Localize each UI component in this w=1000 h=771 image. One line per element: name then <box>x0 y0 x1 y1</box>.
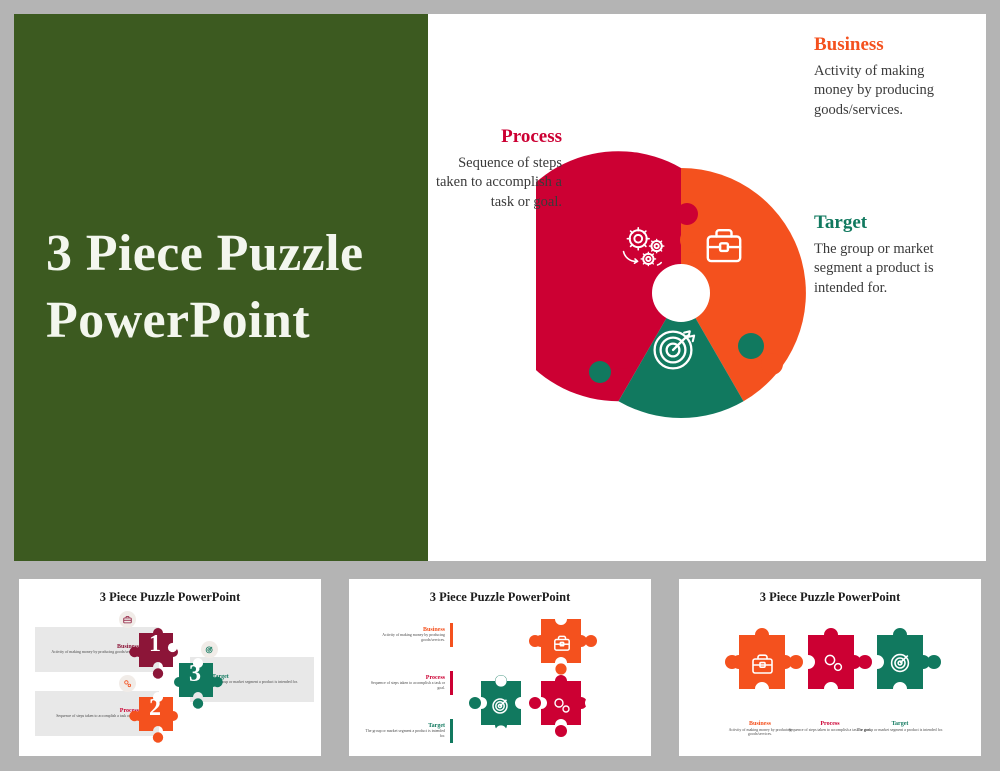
thumbnail-title: 3 Piece Puzzle PowerPoint <box>19 590 321 605</box>
thumb2-legend-process: Process Sequence of steps taken to accom… <box>363 671 453 695</box>
page-title-line-2: PowerPoint <box>46 288 363 355</box>
puzzle-knob-lower-left <box>609 343 635 369</box>
target-icon <box>493 699 507 713</box>
puzzle-wheel <box>556 168 806 418</box>
thumb2-desc-business: Activity of making money by producing go… <box>363 633 445 643</box>
puzzle-knob-lower-right <box>738 333 764 359</box>
thumbnail-canvas: 3 Piece Puzzle PowerPoint Business Activ… <box>349 579 651 756</box>
thumb3-desc-target: The group or market segment a product is… <box>857 728 943 733</box>
thumbnail-canvas: 3 Piece Puzzle PowerPoint Business Activ… <box>19 579 321 756</box>
page-title-line-1: 3 Piece Puzzle <box>46 221 363 288</box>
label-process: Process Sequence of steps taken to accom… <box>430 126 562 212</box>
thumb3-caption-target: Target The group or market segment a pro… <box>857 721 943 732</box>
puzzle-notch-top <box>676 203 698 225</box>
label-process-description: Sequence of steps taken to accomplish a … <box>430 154 562 212</box>
thumbnail-numbered-cards[interactable]: 3 Piece Puzzle PowerPoint Business Activ… <box>8 570 332 765</box>
thumb1-piece-3[interactable] <box>167 653 225 711</box>
label-business-description: Activity of making money by producing go… <box>814 62 964 120</box>
thumb2-legend-target: Target The group or market segment a pro… <box>363 719 453 743</box>
thumb2-desc-target: The group or market segment a product is… <box>363 729 445 739</box>
thumbnail-horizontal-row[interactable]: 3 Piece Puzzle PowerPoint <box>668 570 992 765</box>
title-panel: 3 Piece Puzzle PowerPoint <box>14 14 428 561</box>
thumb1-badge-target <box>201 641 218 658</box>
thumb2-piece-target[interactable] <box>467 675 539 743</box>
thumb1-badge-gears <box>119 675 136 692</box>
thumb2-label-process: Process <box>363 675 445 682</box>
thumb2-desc-process: Sequence of steps taken to accomplish a … <box>363 681 445 691</box>
thumb2-label-target: Target <box>363 723 445 730</box>
label-target: Target The group or market segment a pro… <box>814 212 969 298</box>
diagram-panel: Process Sequence of steps taken to accom… <box>428 14 986 561</box>
thumb2-legend-business: Business Activity of making money by pro… <box>363 623 453 647</box>
thumbnail-title: 3 Piece Puzzle PowerPoint <box>349 590 651 605</box>
label-business-title: Business <box>814 34 964 56</box>
thumbnail-cluster[interactable]: 3 Piece Puzzle PowerPoint Business Activ… <box>338 570 662 765</box>
main-slide: 3 Piece Puzzle PowerPoint <box>14 14 986 561</box>
label-target-description: The group or market segment a product is… <box>814 240 969 298</box>
thumb3-piece-target[interactable] <box>861 625 943 705</box>
puzzle-knob-top <box>680 227 706 253</box>
thumb2-label-business: Business <box>363 627 445 634</box>
label-target-title: Target <box>814 212 969 234</box>
puzzle-notch-lower-left <box>589 361 611 383</box>
label-process-title: Process <box>430 126 562 148</box>
thumb2-bar-business <box>450 623 453 647</box>
thumb1-desc-business: Activity of making money by producing go… <box>51 650 139 655</box>
puzzle-notch-lower-right <box>761 353 783 375</box>
thumb2-bar-target <box>450 719 453 743</box>
thumb1-badge-briefcase <box>119 611 136 628</box>
thumbnail-canvas: 3 Piece Puzzle PowerPoint <box>679 579 981 756</box>
thumbnail-strip: 3 Piece Puzzle PowerPoint Business Activ… <box>8 570 992 765</box>
thumb2-piece-business[interactable] <box>527 613 599 681</box>
thumbnail-title: 3 Piece Puzzle PowerPoint <box>679 590 981 605</box>
label-business: Business Activity of making money by pro… <box>814 34 964 120</box>
slide-preview-stage: 3 Piece Puzzle PowerPoint <box>0 0 1000 771</box>
page-title: 3 Piece Puzzle PowerPoint <box>14 221 363 354</box>
briefcase-icon <box>123 615 132 624</box>
thumb2-bar-process <box>450 671 453 695</box>
target-icon <box>205 645 214 654</box>
thumb3-label-target: Target <box>857 721 943 728</box>
gears-icon <box>123 679 132 688</box>
